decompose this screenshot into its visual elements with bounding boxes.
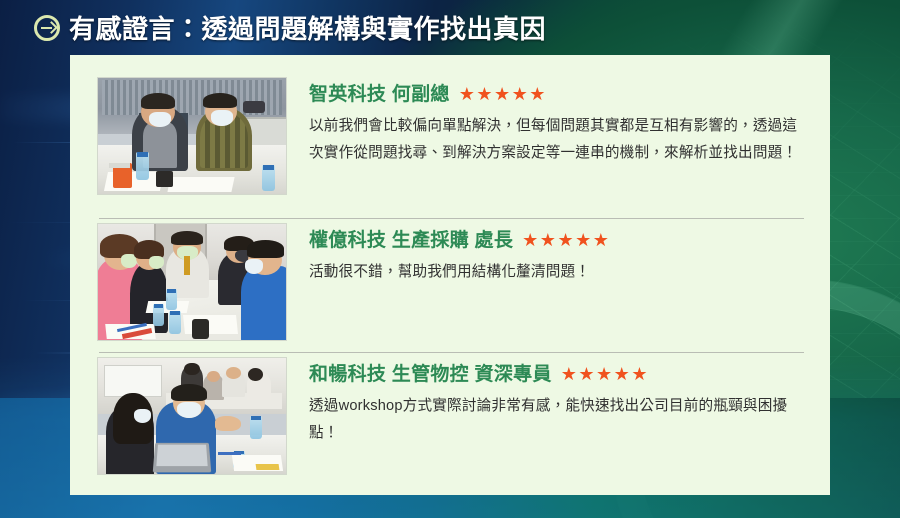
testimonial-content: 和暢科技 生管物控 資深專員 ★★★★★ 透過workshop方式實際討論非常有…: [309, 357, 808, 447]
testimonials-panel: 智英科技 何副總 ★★★★★ 以前我們會比較偏向單點解決，但每個問題其實都是互相…: [70, 55, 830, 495]
testimonial-content: 智英科技 何副總 ★★★★★ 以前我們會比較偏向單點解決，但每個問題其實都是互相…: [309, 77, 808, 167]
testimonial-item: 權億科技 生產採購 處長 ★★★★★ 活動很不錯，幫助我們用結構化釐清問題！: [97, 219, 808, 352]
testimonial-photo: [97, 223, 287, 341]
testimonial-content: 權億科技 生產採購 處長 ★★★★★ 活動很不錯，幫助我們用結構化釐清問題！: [309, 223, 808, 286]
slide-canvas: 有感證言：透過問題解構與實作找出真因: [0, 0, 900, 518]
testimonial-photo: [97, 77, 287, 195]
testimonial-item: 和暢科技 生管物控 資深專員 ★★★★★ 透過workshop方式實際討論非常有…: [97, 353, 808, 493]
page-title: 有感證言：透過問題解構與實作找出真因: [69, 9, 546, 46]
testimonial-company: 權億科技 生產採購 處長: [309, 225, 513, 252]
testimonial-heading: 和暢科技 生管物控 資深專員 ★★★★★: [309, 359, 808, 386]
rating-stars: ★★★★★: [522, 231, 610, 249]
testimonial-photo: [97, 357, 287, 475]
testimonial-item: 智英科技 何副總 ★★★★★ 以前我們會比較偏向單點解決，但每個問題其實都是互相…: [97, 73, 808, 218]
testimonial-heading: 權億科技 生產採購 處長 ★★★★★: [309, 225, 808, 252]
testimonial-text: 以前我們會比較偏向單點解決，但每個問題其實都是互相有影響的，透過這次實作從問題找…: [309, 113, 808, 167]
testimonial-heading: 智英科技 何副總 ★★★★★: [309, 79, 808, 106]
testimonial-text: 活動很不錯，幫助我們用結構化釐清問題！: [309, 259, 808, 286]
testimonial-company: 智英科技 何副總: [309, 79, 450, 106]
slide-header: 有感證言：透過問題解構與實作找出真因: [0, 0, 546, 55]
rating-stars: ★★★★★: [561, 365, 649, 383]
testimonial-company: 和暢科技 生管物控 資深專員: [309, 359, 552, 386]
arrow-circle-right-icon: [34, 15, 60, 41]
rating-stars: ★★★★★: [459, 85, 547, 103]
testimonial-text: 透過workshop方式實際討論非常有感，能快速找出公司目前的瓶頸與困擾點！: [309, 393, 808, 447]
